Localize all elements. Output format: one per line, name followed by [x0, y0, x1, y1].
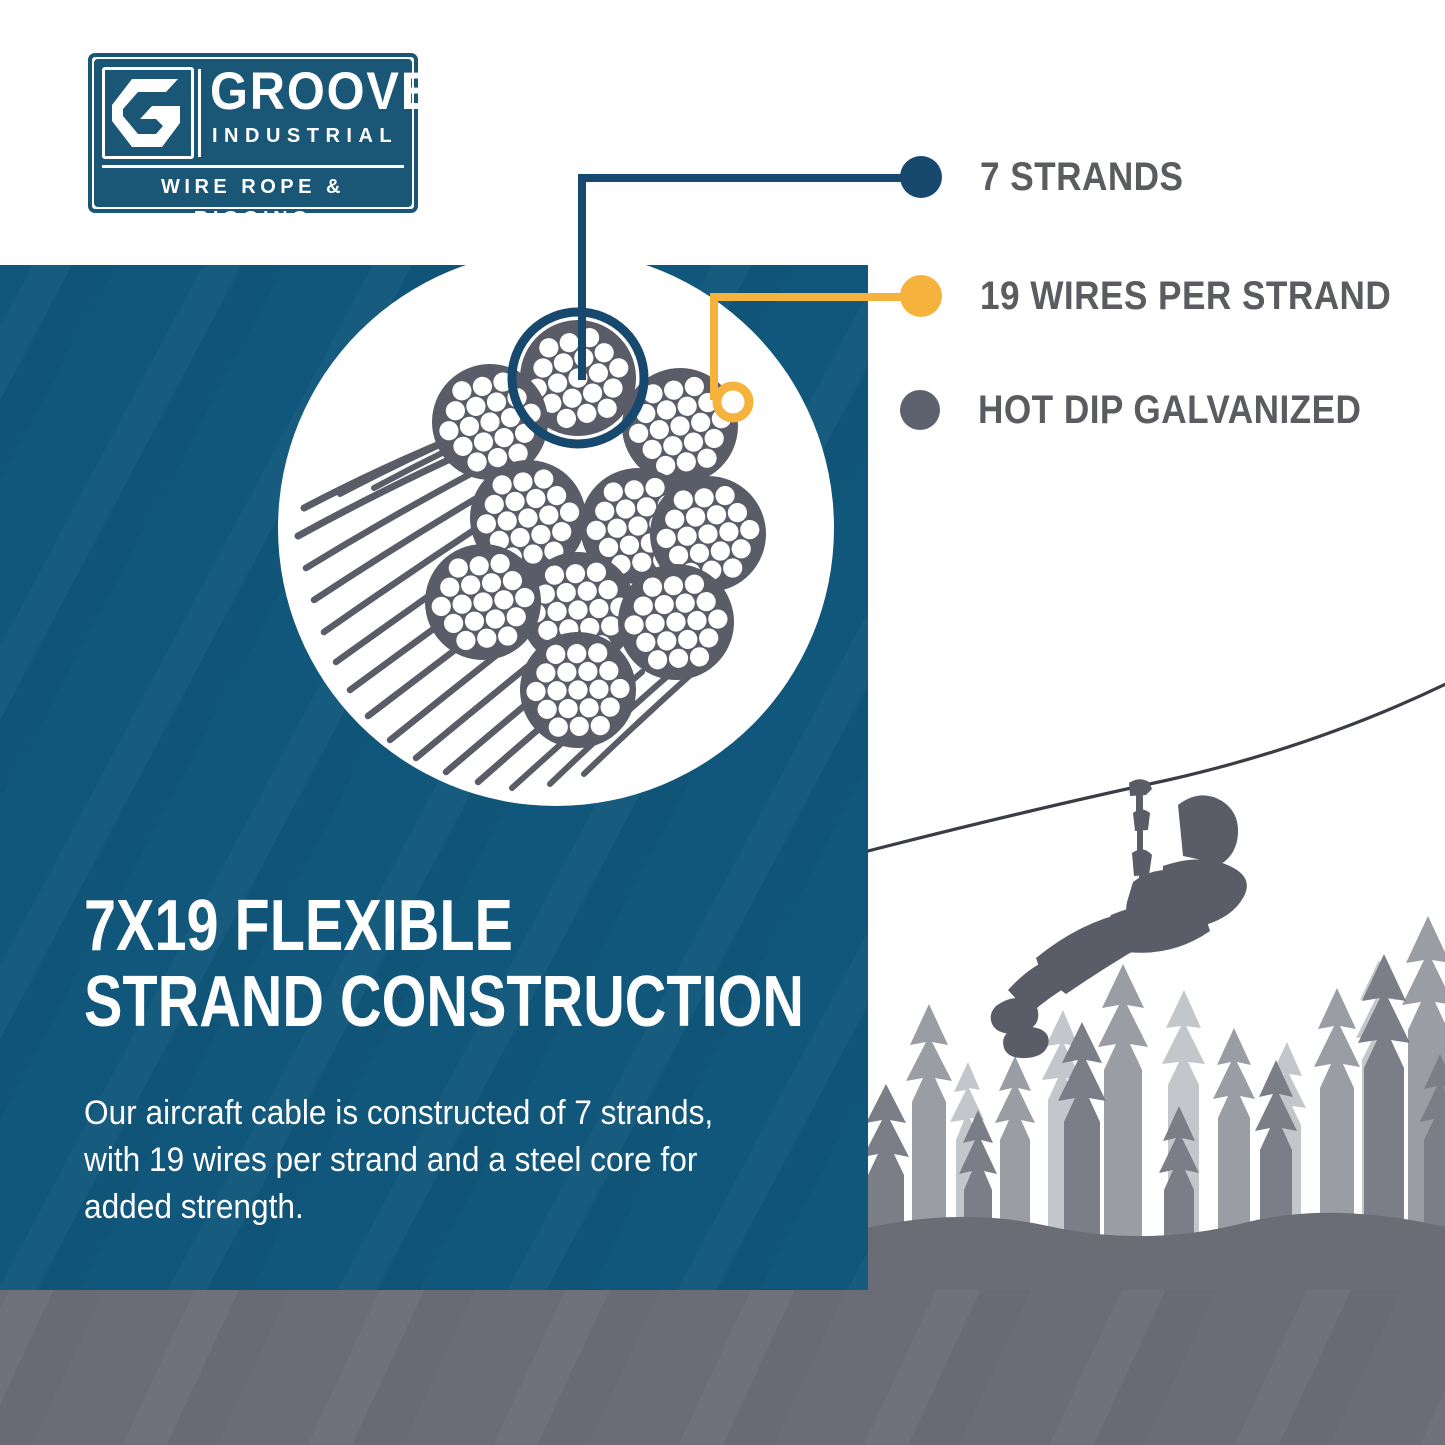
leader-line-wires: [714, 297, 918, 400]
g-monogram-icon: [112, 79, 184, 147]
callout-label-strands: 7 STRANDS: [980, 155, 1183, 199]
callout-dot-wires: [900, 275, 942, 317]
callout-hot-dip-galvanized[interactable]: HOT DIP GALVANIZED: [900, 388, 1414, 432]
callout-label-galvanized: HOT DIP GALVANIZED: [978, 388, 1361, 432]
logo-top-row: GROOVE INDUSTRIAL: [102, 67, 404, 159]
infographic-canvas: GROOVE INDUSTRIAL WIRE ROPE & RIGGING: [0, 0, 1445, 1445]
headline-block: 7X19 FLEXIBLE STRAND CONSTRUCTION: [84, 888, 844, 1040]
callout-wires-per-strand[interactable]: 19 WIRES PER STRAND: [900, 274, 1445, 318]
headline-line-1: 7X19 FLEXIBLE: [84, 888, 692, 964]
callout-dot-galvanized: [900, 390, 940, 430]
callout-strands[interactable]: 7 STRANDS: [900, 155, 1211, 199]
headline-line-2: STRAND CONSTRUCTION: [84, 964, 692, 1040]
logo-inner-panel: GROOVE INDUSTRIAL WIRE ROPE & RIGGING: [94, 59, 412, 207]
logo-rule: [102, 165, 404, 168]
callout-label-wires: 19 WIRES PER STRAND: [980, 274, 1391, 318]
logo-wordmark: GROOVE INDUSTRIAL: [208, 67, 404, 159]
bottom-gray-band: [0, 1290, 1445, 1445]
brand-logo[interactable]: GROOVE INDUSTRIAL WIRE ROPE & RIGGING: [88, 53, 418, 213]
callout-dot-strands: [900, 156, 942, 198]
logo-name: GROOVE: [210, 64, 435, 120]
logo-divider: [198, 69, 201, 157]
leader-line-strands: [582, 178, 918, 380]
zipline-scene: [868, 670, 1445, 1295]
body-description: Our aircraft cable is constructed of 7 s…: [84, 1090, 735, 1231]
logo-subtitle: INDUSTRIAL: [212, 125, 398, 147]
logo-tagline: WIRE ROPE & RIGGING: [102, 171, 404, 203]
